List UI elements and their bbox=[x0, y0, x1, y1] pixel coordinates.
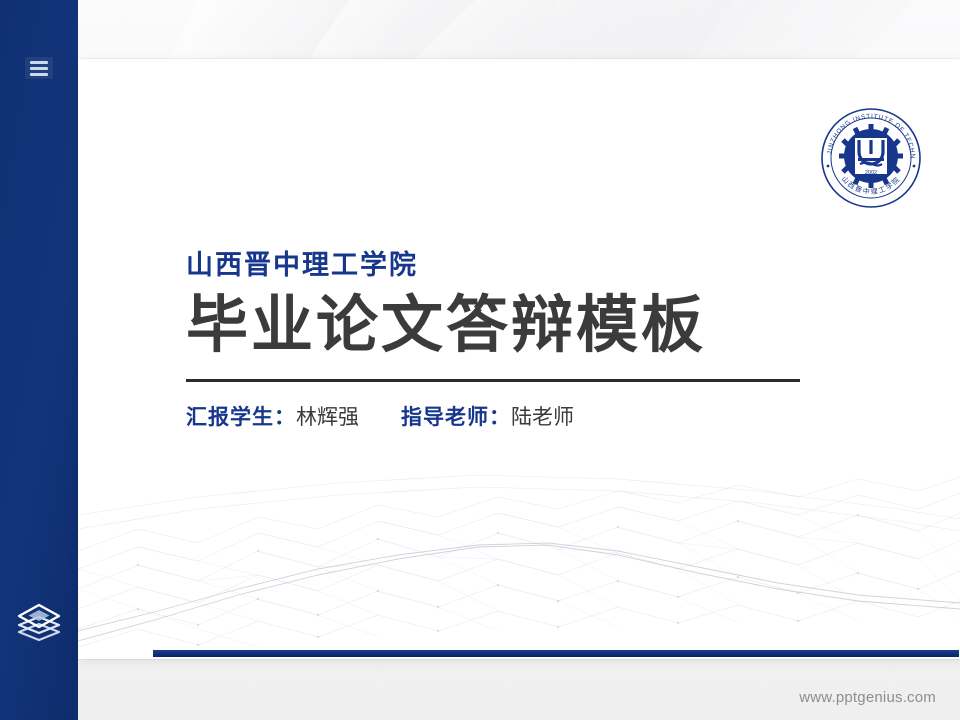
page-title: 毕业论文答辩模板 bbox=[186, 291, 886, 360]
slide-bottom-accent-bar bbox=[153, 650, 959, 657]
layers-stack-icon[interactable] bbox=[16, 602, 62, 642]
school-name: 山西晋中理工学院 bbox=[186, 249, 886, 281]
svg-text:2002: 2002 bbox=[865, 170, 877, 176]
slide-preview-app: SHANXI JINZHONG INSTITUTE OF TECHNOLOGY … bbox=[0, 0, 960, 720]
hamburger-menu-icon[interactable] bbox=[25, 57, 53, 79]
university-crest-logo: SHANXI JINZHONG INSTITUTE OF TECHNOLOGY … bbox=[817, 104, 925, 212]
hamburger-bar-1 bbox=[30, 61, 48, 64]
slide-text-block: 山西晋中理工学院 毕业论文答辩模板 汇报学生：林辉强指导老师：陆老师 bbox=[186, 249, 886, 431]
hamburger-bar-3 bbox=[30, 73, 48, 76]
byline: 汇报学生：林辉强指导老师：陆老师 bbox=[186, 404, 886, 431]
title-divider bbox=[186, 379, 800, 382]
wireframe-mesh-graphic bbox=[78, 469, 960, 659]
slide-canvas: SHANXI JINZHONG INSTITUTE OF TECHNOLOGY … bbox=[78, 59, 960, 659]
advisor-name: 陆老师 bbox=[511, 406, 574, 429]
sidebar-item-layers[interactable] bbox=[0, 592, 78, 652]
left-sidebar bbox=[0, 0, 78, 720]
hamburger-bar-2 bbox=[30, 67, 48, 70]
sidebar-item-menu[interactable] bbox=[0, 48, 78, 88]
advisor-label: 指导老师： bbox=[401, 406, 511, 429]
student-name: 林辉强 bbox=[296, 406, 359, 429]
student-label: 汇报学生： bbox=[186, 406, 296, 429]
site-watermark: www.pptgenius.com bbox=[799, 689, 936, 706]
